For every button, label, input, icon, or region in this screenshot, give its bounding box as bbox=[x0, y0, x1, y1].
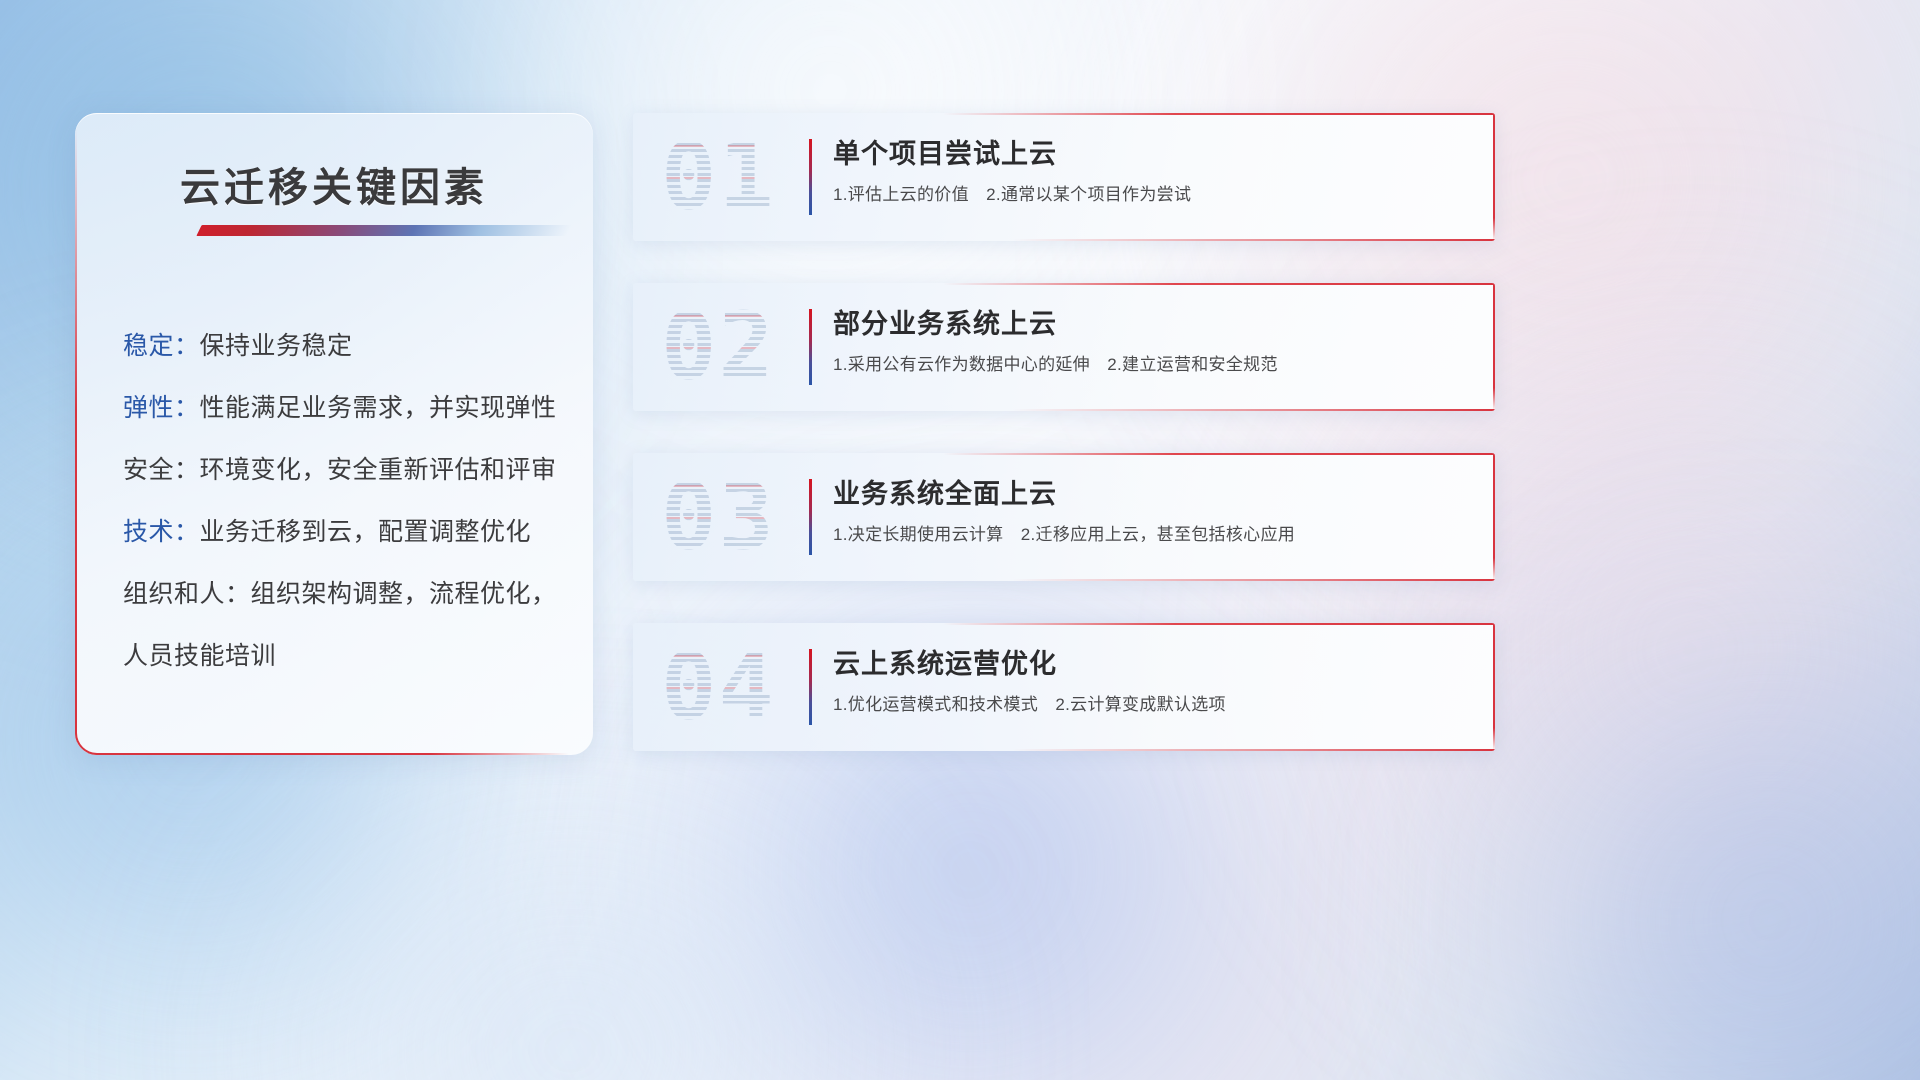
card-body: 业务系统全面上云 1.决定长期使用云计算 2.迁移应用上云，甚至包括核心应用 bbox=[833, 475, 1473, 547]
factor-value: 保持业务稳定 bbox=[200, 332, 353, 360]
card-divider-bar bbox=[809, 479, 812, 555]
factor-row: 弹性：性能满足业务需求，并实现弹性 bbox=[123, 377, 569, 439]
step-card-03[interactable]: 03 03 业务系统全面上云 1.决定长期使用云计算 2.迁移应用上云，甚至包括… bbox=[633, 453, 1495, 581]
step-description: 1.采用公有云作为数据中心的延伸 2.建立运营和安全规范 bbox=[833, 353, 1473, 377]
card-right-accent bbox=[1493, 283, 1495, 411]
step-title: 业务系统全面上云 bbox=[833, 475, 1473, 513]
card-top-accent bbox=[943, 283, 1495, 285]
step-description: 1.决定长期使用云计算 2.迁移应用上云，甚至包括核心应用 bbox=[833, 523, 1473, 547]
step-number-ghost: 02 bbox=[661, 301, 776, 393]
card-divider-bar bbox=[809, 139, 812, 215]
card-body: 云上系统运营优化 1.优化运营模式和技术模式 2.云计算变成默认选项 bbox=[833, 645, 1473, 717]
factor-value: 人员技能培训 bbox=[123, 642, 276, 670]
card-divider-bar bbox=[809, 649, 812, 725]
page-title: 云迁移关键因素 bbox=[75, 155, 593, 213]
factor-label: 弹性： bbox=[123, 394, 200, 422]
factor-row: 安全：环境变化，安全重新评估和评审 bbox=[123, 439, 569, 501]
card-bottom-accent bbox=[1012, 239, 1495, 241]
factor-list: 稳定：保持业务稳定 弹性：性能满足业务需求，并实现弹性 安全：环境变化，安全重新… bbox=[123, 315, 569, 687]
key-factors-panel: 云迁移关键因素 稳定：保持业务稳定 弹性：性能满足业务需求，并实现弹性 安全：环… bbox=[75, 113, 593, 755]
card-body: 部分业务系统上云 1.采用公有云作为数据中心的延伸 2.建立运营和安全规范 bbox=[833, 305, 1473, 377]
card-right-accent bbox=[1493, 453, 1495, 581]
step-number-ghost: 04 bbox=[661, 641, 776, 733]
factor-label: 安全： bbox=[123, 456, 200, 484]
card-right-accent bbox=[1493, 623, 1495, 751]
step-description: 1.优化运营模式和技术模式 2.云计算变成默认选项 bbox=[833, 693, 1473, 717]
step-number-ghost: 03 bbox=[661, 471, 776, 563]
factor-value: 业务迁移到云，配置调整优化 bbox=[200, 518, 532, 546]
step-title: 部分业务系统上云 bbox=[833, 305, 1473, 343]
step-description: 1.评估上云的价值 2.通常以某个项目作为尝试 bbox=[833, 183, 1473, 207]
migration-steps-list: 01 01 单个项目尝试上云 1.评估上云的价值 2.通常以某个项目作为尝试 0… bbox=[633, 113, 1858, 793]
step-number-ghost-highlight: 01 bbox=[661, 131, 776, 223]
step-card-01[interactable]: 01 01 单个项目尝试上云 1.评估上云的价值 2.通常以某个项目作为尝试 bbox=[633, 113, 1495, 241]
step-card-02[interactable]: 02 02 部分业务系统上云 1.采用公有云作为数据中心的延伸 2.建立运营和安… bbox=[633, 283, 1495, 411]
factor-row: 组织和人：组织架构调整，流程优化， bbox=[123, 563, 569, 625]
factor-row: 技术：业务迁移到云，配置调整优化 bbox=[123, 501, 569, 563]
card-right-accent bbox=[1493, 113, 1495, 241]
card-body: 单个项目尝试上云 1.评估上云的价值 2.通常以某个项目作为尝试 bbox=[833, 135, 1473, 207]
factor-row: 人员技能培训 bbox=[123, 625, 569, 687]
step-title: 单个项目尝试上云 bbox=[833, 135, 1473, 173]
card-bottom-accent bbox=[1012, 579, 1495, 581]
card-bottom-accent bbox=[1012, 409, 1495, 411]
step-number-ghost-highlight: 02 bbox=[661, 301, 776, 393]
factor-label: 稳定： bbox=[123, 332, 200, 360]
step-number-ghost: 01 bbox=[661, 131, 776, 223]
card-top-accent bbox=[943, 623, 1495, 625]
step-number-ghost-highlight: 03 bbox=[661, 471, 776, 563]
card-bottom-accent bbox=[1012, 749, 1495, 751]
step-title: 云上系统运营优化 bbox=[833, 645, 1473, 683]
factor-label: 组织和人： bbox=[123, 580, 251, 608]
factor-value: 环境变化，安全重新评估和评审 bbox=[200, 456, 557, 484]
step-card-04[interactable]: 04 04 云上系统运营优化 1.优化运营模式和技术模式 2.云计算变成默认选项 bbox=[633, 623, 1495, 751]
factor-value: 组织架构调整，流程优化， bbox=[251, 580, 557, 608]
factor-value: 性能满足业务需求，并实现弹性 bbox=[200, 394, 557, 422]
step-number-ghost-highlight: 04 bbox=[661, 641, 776, 733]
factor-row: 稳定：保持业务稳定 bbox=[123, 315, 569, 377]
card-top-accent bbox=[943, 453, 1495, 455]
factor-label: 技术： bbox=[123, 518, 200, 546]
card-top-accent bbox=[943, 113, 1495, 115]
card-divider-bar bbox=[809, 309, 812, 385]
title-underline-bar bbox=[196, 225, 571, 236]
